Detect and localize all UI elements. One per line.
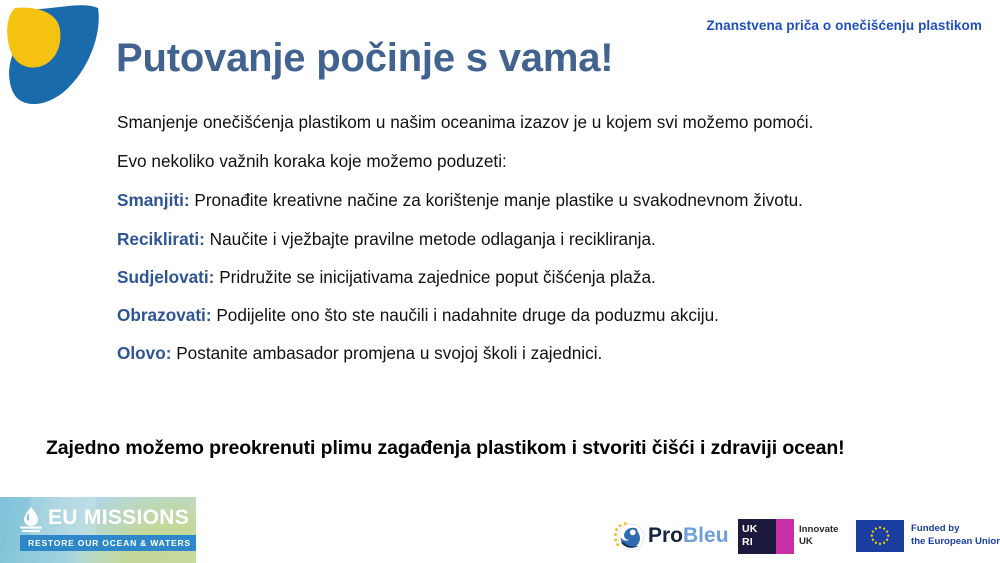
- step-text: Postanite ambasador promjena u svojoj šk…: [171, 343, 602, 363]
- step-item: Obrazovati: Podijelite ono što ste nauči…: [117, 307, 977, 324]
- body-content: Smanjenje onečišćenja plastikom u našim …: [117, 114, 977, 383]
- step-item: Reciklirati: Naučite i vježbajte praviln…: [117, 231, 977, 248]
- closing-statement: Zajedno možemo preokrenuti plimu zagađen…: [46, 437, 845, 460]
- eu-missions-missions: MISSIONS: [84, 506, 189, 529]
- eu-missions-tagline: RESTORE OUR OCEAN & WATERS: [20, 535, 196, 551]
- eu-missions-wordmark: EU MISSIONS: [48, 507, 189, 528]
- innovate-uk-line-2: UK: [799, 536, 838, 548]
- probleu-logo: ProBleu: [612, 520, 724, 554]
- eu-funded-logo: Funded by the European Union: [856, 520, 992, 553]
- intro-line-2: Evo nekoliko važnih koraka koje možemo p…: [117, 153, 977, 170]
- step-lead-label: Olovo:: [117, 343, 171, 363]
- innovate-uk-label: Innovate UK: [799, 524, 838, 548]
- eu-funded-line-2: the European Union: [911, 536, 1000, 549]
- ukri-mark-line-1: UK: [742, 523, 772, 536]
- step-lead-label: Reciklirati:: [117, 229, 205, 249]
- probleu-wordmark: ProBleu: [648, 525, 729, 546]
- step-text: Naučite i vježbajte pravilne metode odla…: [205, 229, 656, 249]
- step-text: Pronađite kreativne načine za korištenje…: [190, 190, 803, 210]
- eu-missions-logo: EU MISSIONS RESTORE OUR OCEAN & WATERS: [0, 497, 196, 563]
- header-eyebrow: Znanstvena priča o onečišćenju plastikom: [706, 18, 982, 33]
- probleu-swirl-icon: [612, 521, 646, 553]
- ukri-mark-line-2: RI: [742, 536, 772, 549]
- eu-funded-label: Funded by the European Union: [911, 523, 1000, 548]
- step-lead-label: Sudjelovati:: [117, 267, 214, 287]
- page-title: Putovanje počinje s vama!: [116, 36, 613, 81]
- water-drop-waves-icon: [18, 506, 44, 534]
- step-lead-label: Obrazovati:: [117, 305, 212, 325]
- probleu-pro: Pro: [648, 524, 683, 547]
- eu-flag-icon: [856, 520, 904, 552]
- step-text: Pridružite se inicijativama zajednice po…: [214, 267, 655, 287]
- innovate-uk-logo: UK RI Innovate UK: [738, 519, 836, 554]
- step-item: Smanjiti: Pronađite kreativne načine za …: [117, 192, 977, 209]
- probleu-bleu: Bleu: [683, 524, 729, 547]
- ukri-block-icon: UK RI: [738, 519, 794, 554]
- eu-funded-line-1: Funded by: [911, 523, 1000, 536]
- step-text: Podijelite ono što ste naučili i nadahni…: [212, 305, 719, 325]
- wave-drop-logo-icon: [2, 2, 106, 110]
- step-lead-label: Smanjiti:: [117, 190, 190, 210]
- slide-canvas: Znanstvena priča o onečišćenju plastikom…: [0, 0, 1000, 563]
- step-item: Olovo: Postanite ambasador promjena u sv…: [117, 345, 977, 362]
- innovate-uk-line-1: Innovate: [799, 524, 838, 536]
- step-item: Sudjelovati: Pridružite se inicijativama…: [117, 269, 977, 286]
- intro-line-1: Smanjenje onečišćenja plastikom u našim …: [117, 114, 977, 131]
- eu-missions-eu: EU: [48, 506, 78, 529]
